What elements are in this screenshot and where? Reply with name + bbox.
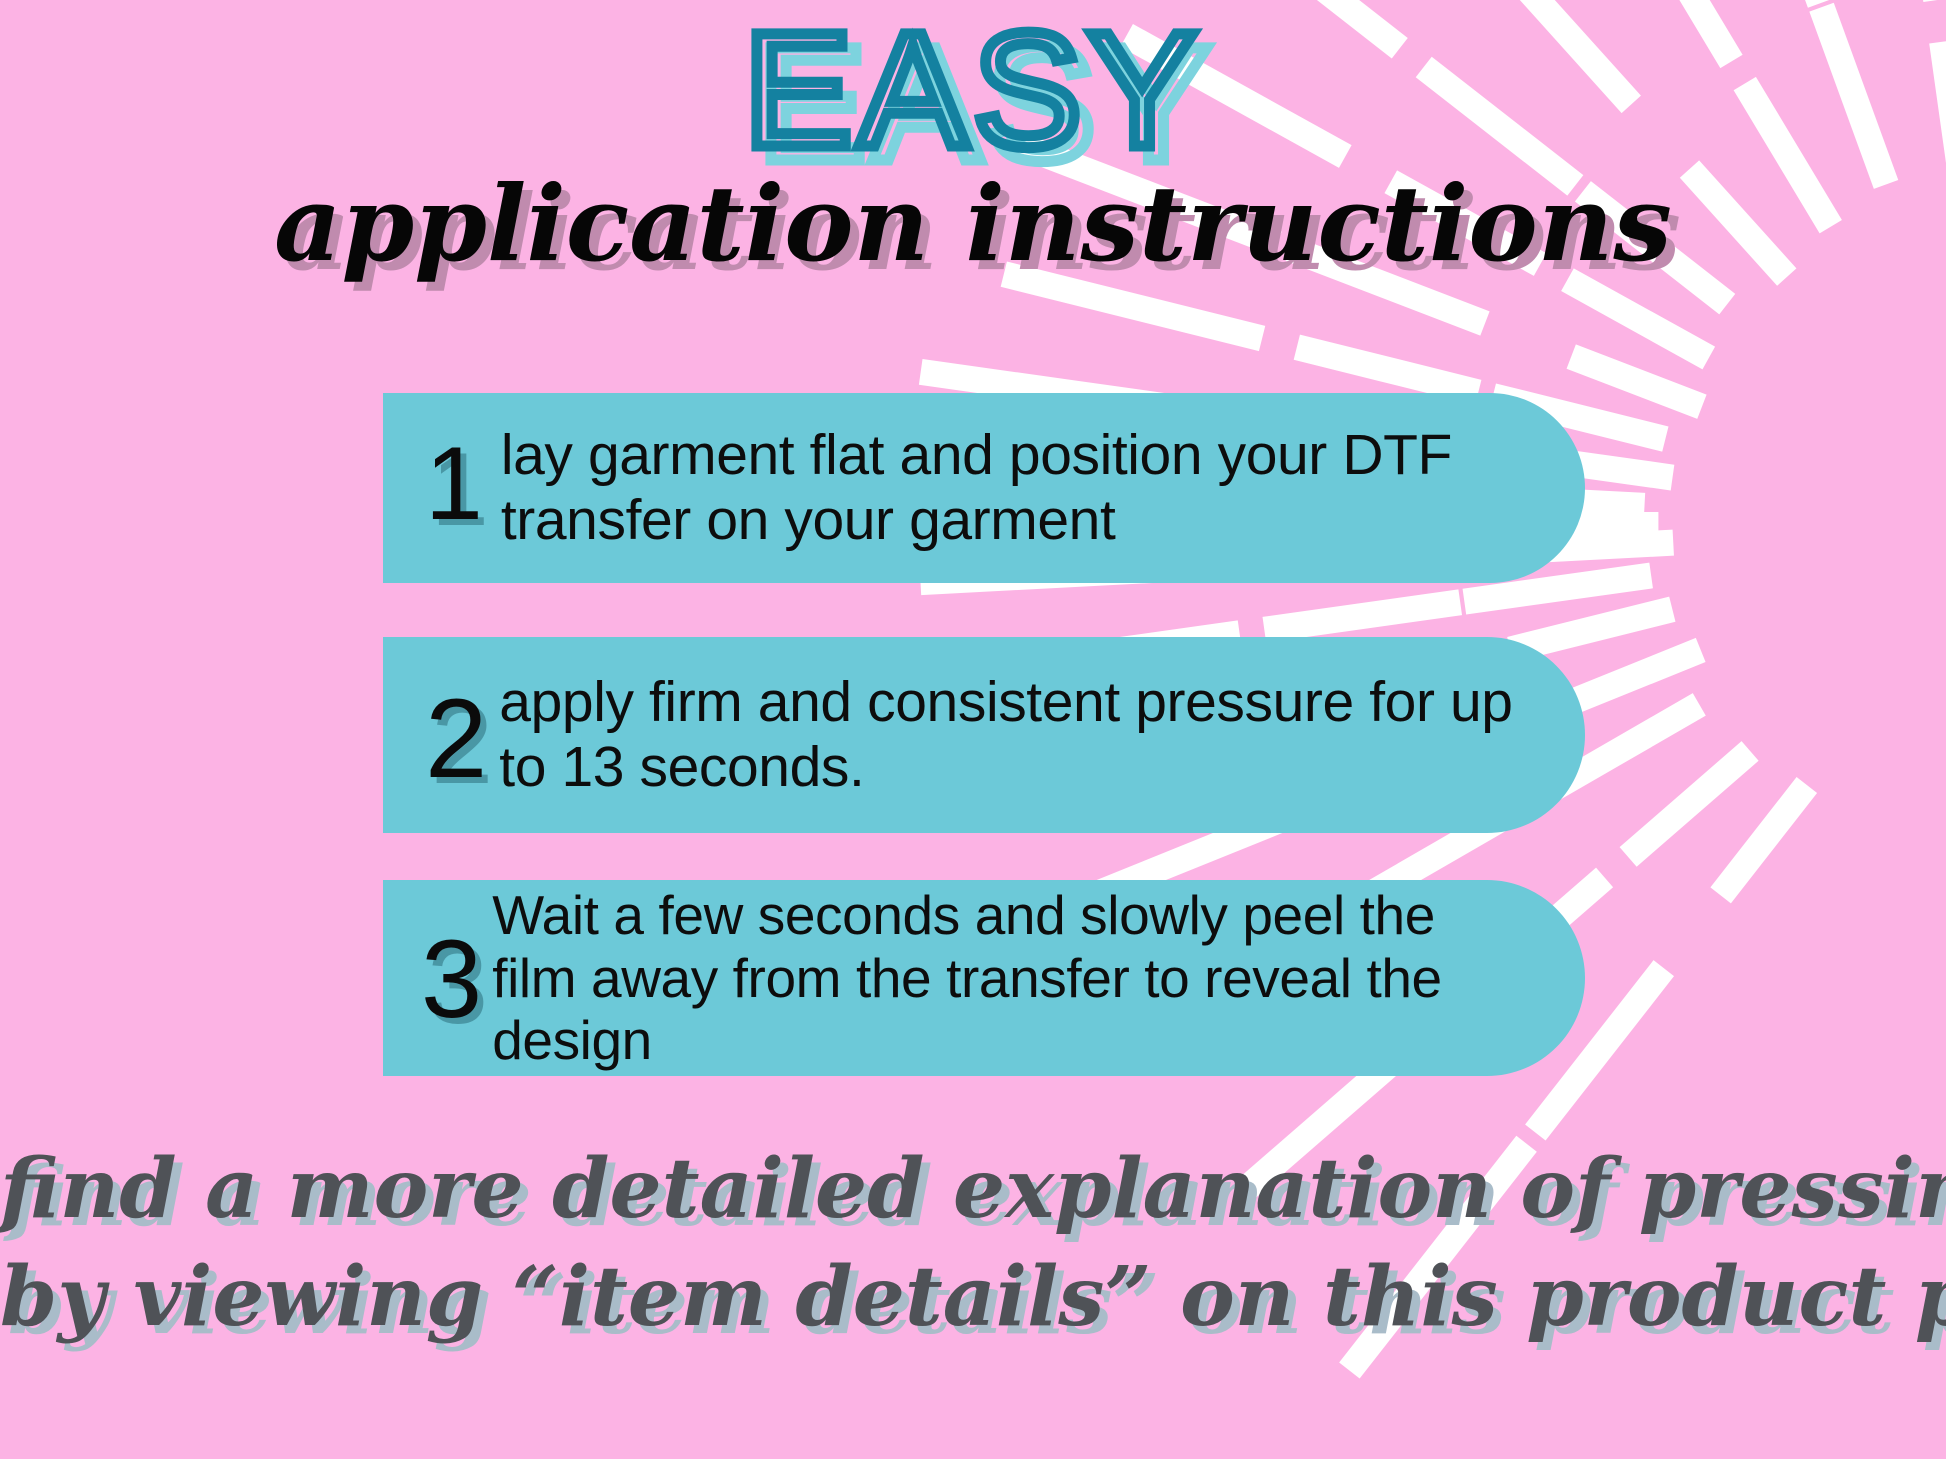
step-text-1: lay garment flat and position your DTF t… bbox=[501, 423, 1525, 553]
step-text-2: apply firm and consistent pressure for u… bbox=[499, 670, 1525, 800]
step-item-1: 1 lay garment flat and position your DTF… bbox=[383, 393, 1585, 583]
step-item-3: 3 Wait a few seconds and slowly peel the… bbox=[383, 880, 1585, 1076]
application-instructions-poster: EASY EASY application instructions 1 lay… bbox=[0, 0, 1946, 1459]
footer-note-line-1: find a more detailed explanation of pres… bbox=[0, 1135, 1946, 1243]
step-number-3: 3 bbox=[421, 925, 482, 1035]
step-text-3: Wait a few seconds and slowly peel the f… bbox=[492, 884, 1525, 1072]
sunburst-ray-segment bbox=[1710, 777, 1817, 903]
sunburst-ray-segment bbox=[1561, 638, 1706, 717]
sunburst-ray-segment bbox=[1620, 741, 1759, 867]
step-number-2: 2 bbox=[425, 683, 487, 795]
page-title: EASY bbox=[0, 8, 1946, 171]
footer-note-line-2: by viewing “item details” on this produc… bbox=[0, 1243, 1946, 1351]
footer-note: find a more detailed explanation of pres… bbox=[0, 1135, 1946, 1351]
sunburst-ray-segment bbox=[1740, 0, 1832, 8]
step-number-1: 1 bbox=[425, 432, 483, 536]
sunburst-ray-segment bbox=[1901, 0, 1946, 2]
page-title-group: EASY EASY bbox=[0, 8, 1946, 188]
sunburst-ray-segment bbox=[1263, 589, 1462, 642]
step-item-2: 2 apply firm and consistent pressure for… bbox=[383, 637, 1585, 833]
sunburst-ray-segment bbox=[1567, 344, 1707, 418]
page-subtitle: application instructions bbox=[0, 168, 1946, 280]
